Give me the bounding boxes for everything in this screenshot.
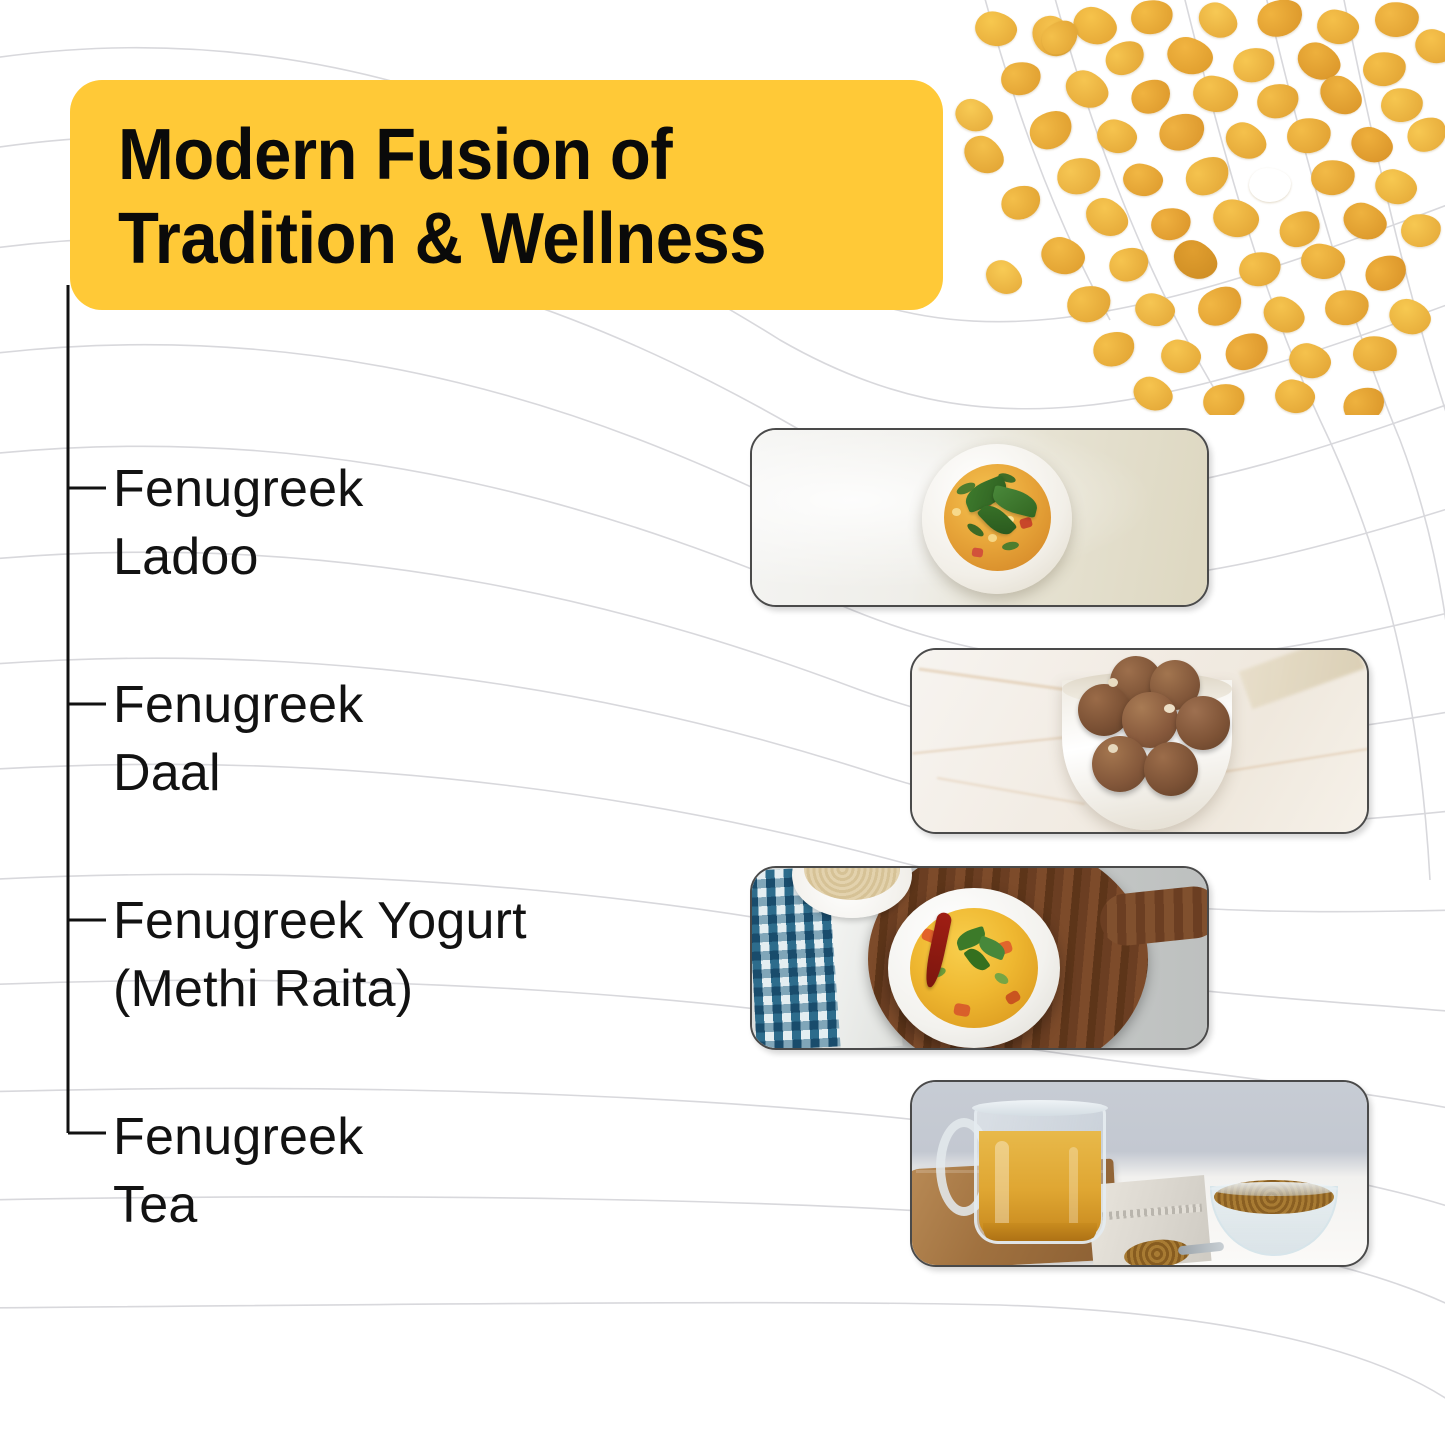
title-banner: Modern Fusion of Tradition & Wellness	[70, 80, 943, 310]
fenugreek-seeds-decor-image	[945, 0, 1445, 415]
timeline-bracket	[60, 285, 120, 1145]
poster-root: Modern Fusion of Tradition & Wellness Fe…	[0, 0, 1445, 1445]
list-item-fenugreek-yogurt: Fenugreek Yogurt (Methi Raita)	[113, 887, 527, 1023]
fenugreek-daal-bowl-photo	[750, 428, 1209, 607]
list-item-fenugreek-tea: Fenugreek Tea	[113, 1103, 363, 1239]
fenugreek-tea-glass-photo	[910, 1080, 1369, 1267]
fenugreek-yogurt-methi-raita-photo	[750, 866, 1209, 1050]
fenugreek-ladoo-bowl-photo	[910, 648, 1369, 834]
list-item-fenugreek-daal: Fenugreek Daal	[113, 671, 363, 807]
page-title: Modern Fusion of Tradition & Wellness	[118, 114, 848, 281]
list-item-fenugreek-ladoo: Fenugreek Ladoo	[113, 455, 363, 591]
